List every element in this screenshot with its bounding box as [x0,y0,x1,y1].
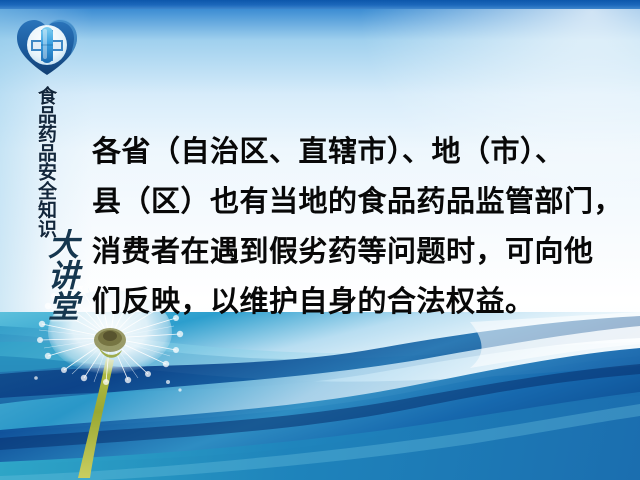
body-line-2: 县（区）也有当地的食品药品监管部门， [92,176,608,226]
vertical-subtitle: 大讲堂 [18,228,78,321]
slide-body-text: 各省（自治区、直辖市）、地（市）、 县（区）也有当地的食品药品监管部门， 消费者… [92,126,608,326]
body-line-3: 消费者在遇到假劣药等问题时，可向他 [92,226,608,276]
vertical-title: 食品药品安全知识 [26,86,56,238]
slide-canvas: 食品药品安全知识 大讲堂 各省（自治区、直辖市）、地（市）、 县（区）也有当地的… [0,0,640,480]
body-line-1: 各省（自治区、直辖市）、地（市）、 [92,126,608,176]
heart-cross-capsule-emblem [14,14,80,80]
body-line-4: 们反映，以维护自身的合法权益。 [92,276,608,326]
top-accent-band [0,0,640,9]
